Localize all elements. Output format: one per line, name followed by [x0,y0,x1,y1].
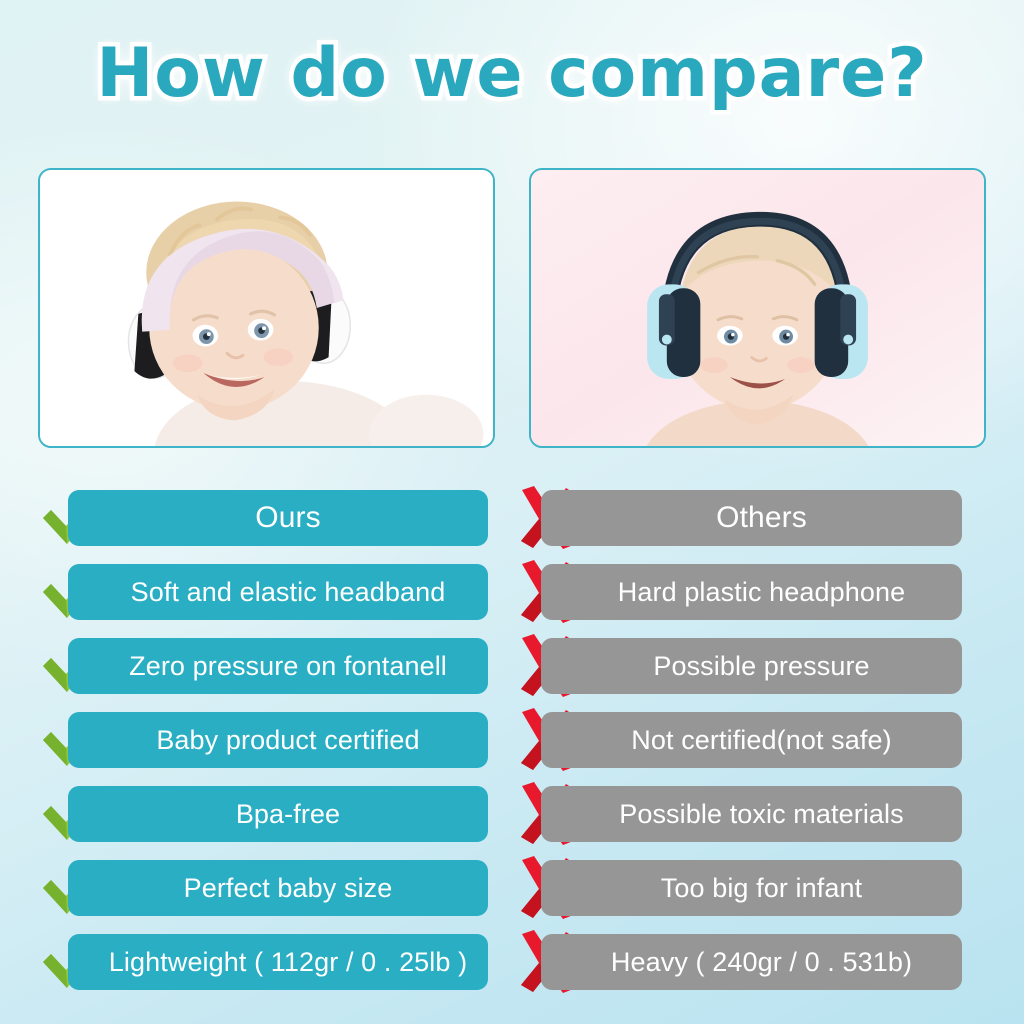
cell-others-label: Not certified(not safe) [631,725,891,756]
cell-others-label: Possible pressure [653,651,869,682]
cell-others-label: Hard plastic headphone [618,577,905,608]
cell-others: Possible pressure [541,638,962,694]
cell-ours: Soft and elastic headband [68,564,488,620]
table-row: Zero pressure on fontanell Possible pres… [0,634,1024,708]
photo-others [529,168,986,448]
cell-others: Others [541,490,962,546]
cell-ours: Ours [68,490,488,546]
photo-row [38,168,986,448]
page-title: How do we compare? [96,34,927,113]
cell-ours: Lightweight ( 112gr / 0 . 25lb ) [68,934,488,990]
cell-others-label: Too big for infant [661,873,862,904]
cell-others-label: Heavy ( 240gr / 0 . 531b) [611,947,912,978]
baby-soft-headband-image [40,170,493,446]
cell-others: Too big for infant [541,860,962,916]
baby-hard-headphone-image [531,170,984,446]
photo-ours [38,168,495,448]
cell-ours: Perfect baby size [68,860,488,916]
cell-ours-label: Zero pressure on fontanell [129,651,447,682]
cell-others-label: Others [716,501,807,535]
cell-ours-label: Ours [255,501,320,535]
cell-ours-label: Perfect baby size [184,873,393,904]
table-row: Baby product certified Not certified(not… [0,708,1024,782]
cell-ours-label: Soft and elastic headband [131,577,446,608]
cell-others: Hard plastic headphone [541,564,962,620]
table-row: Bpa-free Possible toxic materials [0,782,1024,856]
cell-ours-label: Lightweight ( 112gr / 0 . 25lb ) [109,947,467,978]
table-row: Ours Others [0,486,1024,560]
cell-others: Possible toxic materials [541,786,962,842]
cell-others: Heavy ( 240gr / 0 . 531b) [541,934,962,990]
comparison-table: Ours Others Soft and elastic headband Ha… [0,486,1024,1004]
cell-ours-label: Baby product certified [156,725,419,756]
cell-ours: Baby product certified [68,712,488,768]
title-container: How do we compare? [0,34,1024,113]
comparison-infographic: How do we compare? [0,0,1024,1024]
cell-ours: Bpa-free [68,786,488,842]
cell-others-label: Possible toxic materials [619,799,904,830]
table-row: Soft and elastic headband Hard plastic h… [0,560,1024,634]
table-row: Perfect baby size Too big for infant [0,856,1024,930]
table-row: Lightweight ( 112gr / 0 . 25lb ) Heavy (… [0,930,1024,1004]
cell-ours: Zero pressure on fontanell [68,638,488,694]
cell-ours-label: Bpa-free [236,799,340,830]
cell-others: Not certified(not safe) [541,712,962,768]
